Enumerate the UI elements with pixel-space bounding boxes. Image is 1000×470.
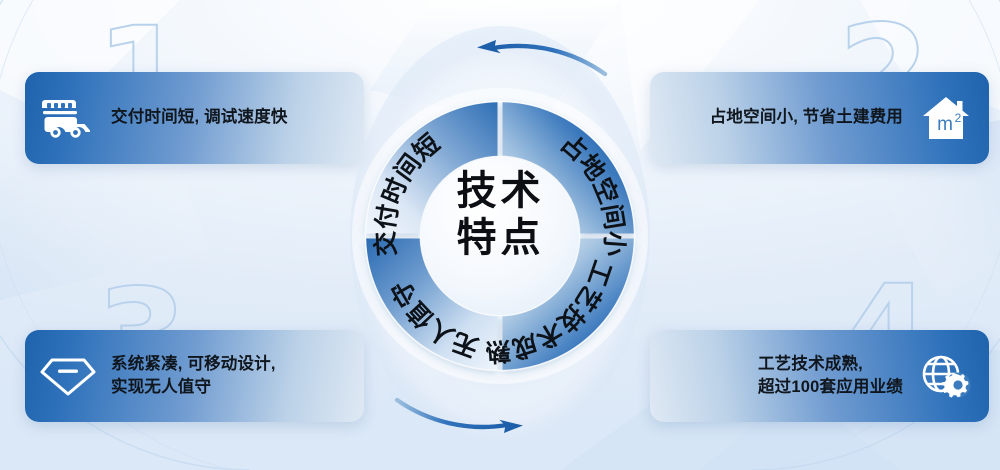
feature-card-2[interactable]: 占地空间小, 节省土建费用 m 2 <box>650 72 989 164</box>
infographic-root: 1 2 3 4 <box>0 0 1000 470</box>
cycle-ring: 交付时间短 占地空间小 工艺技术成熟 无人值守 <box>305 8 695 463</box>
svg-text:m: m <box>937 114 953 135</box>
feature-card-2-text: 占地空间小, 节省土建费用 <box>710 106 903 129</box>
svg-text:2: 2 <box>955 111 962 125</box>
feature-card-4-text: 工艺技术成熟, 超过100套应用业绩 <box>758 353 903 400</box>
gem-icon <box>39 347 97 405</box>
ring-center-disc <box>421 157 579 315</box>
feature-card-4[interactable]: 工艺技术成熟, 超过100套应用业绩 <box>650 330 989 422</box>
house-area-icon: m 2 <box>917 89 975 147</box>
feature-card-3-text: 系统紧凑, 可移动设计, 实现无人值守 <box>111 353 276 400</box>
globe-gear-icon <box>917 347 975 405</box>
truck-icon <box>39 89 97 147</box>
feature-card-1-text: 交付时间短, 调试速度快 <box>111 106 288 129</box>
